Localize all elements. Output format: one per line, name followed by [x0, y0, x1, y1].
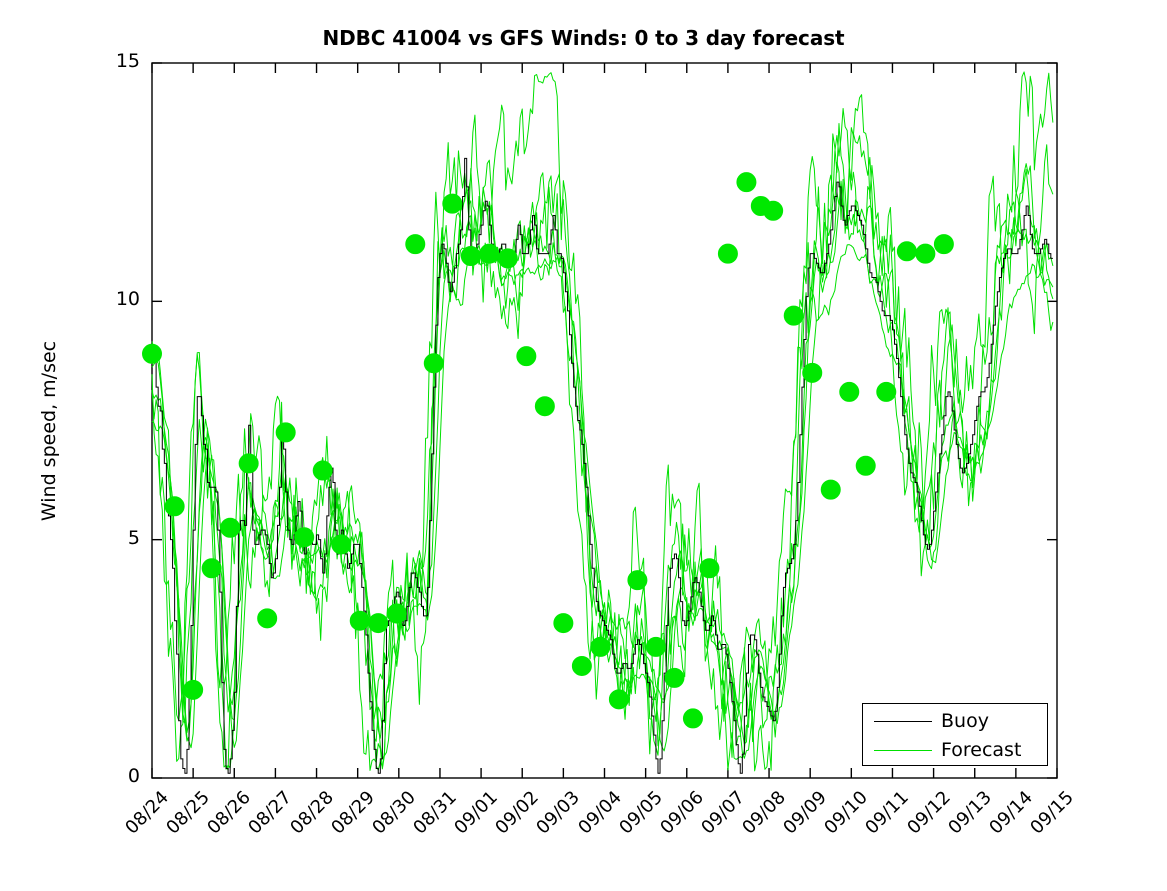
- legend-label-buoy: Buoy: [941, 712, 989, 731]
- forecast-marker: [332, 535, 351, 554]
- forecast-marker: [480, 244, 499, 263]
- forecast-marker: [239, 454, 258, 473]
- forecast-marker: [934, 235, 953, 254]
- forecast-marker: [803, 363, 822, 382]
- forecast-marker: [276, 423, 295, 442]
- forecast-marker: [737, 173, 756, 192]
- legend-label-forecast: Forecast: [941, 741, 1021, 760]
- forecast-marker: [683, 709, 702, 728]
- forecast-marker: [665, 668, 684, 687]
- forecast-marker: [350, 611, 369, 630]
- forecast-marker: [202, 559, 221, 578]
- forecast-marker: [535, 397, 554, 416]
- forecast-marker: [821, 480, 840, 499]
- y-tick-label: 15: [80, 50, 140, 72]
- legend: Buoy Forecast: [862, 703, 1048, 766]
- forecast-marker: [461, 247, 480, 266]
- axes-frame: [152, 63, 1057, 778]
- forecast-marker: [877, 382, 896, 401]
- forecast-marker: [628, 571, 647, 590]
- forecast-marker: [764, 201, 783, 220]
- legend-swatch-buoy: [874, 721, 932, 722]
- forecast-marker: [424, 354, 443, 373]
- forecast-marker: [165, 497, 184, 516]
- forecast-marker: [369, 614, 388, 633]
- forecast-marker: [184, 680, 203, 699]
- figure-canvas: NDBC 41004 vs GFS Winds: 0 to 3 day fore…: [0, 0, 1167, 875]
- forecast-marker: [443, 194, 462, 213]
- forecast-marker: [387, 604, 406, 623]
- forecast-marker: [646, 637, 665, 656]
- legend-entry-buoy: Buoy: [863, 706, 1047, 736]
- forecast-marker: [554, 614, 573, 633]
- y-tick-label: 10: [80, 288, 140, 310]
- y-tick-label: 0: [80, 765, 140, 787]
- forecast-marker: [700, 559, 719, 578]
- forecast-marker: [313, 461, 332, 480]
- forecast-marker: [856, 456, 875, 475]
- forecast-marker: [498, 249, 517, 268]
- forecast-marker: [840, 382, 859, 401]
- legend-entry-forecast: Forecast: [863, 735, 1047, 765]
- forecast-marker: [784, 306, 803, 325]
- legend-swatch-forecast: [874, 750, 932, 751]
- forecast-marker: [143, 344, 162, 363]
- forecast-marker: [572, 656, 591, 675]
- forecast-marker: [517, 347, 536, 366]
- forecast-marker: [406, 235, 425, 254]
- forecast-marker: [897, 242, 916, 261]
- forecast-marker: [221, 518, 240, 537]
- forecast-marker: [295, 528, 314, 547]
- forecast-marker: [609, 690, 628, 709]
- forecast-marker: [916, 244, 935, 263]
- forecast-marker: [258, 609, 277, 628]
- forecast-marker: [591, 637, 610, 656]
- y-tick-label: 5: [80, 527, 140, 549]
- forecast-marker: [718, 244, 737, 263]
